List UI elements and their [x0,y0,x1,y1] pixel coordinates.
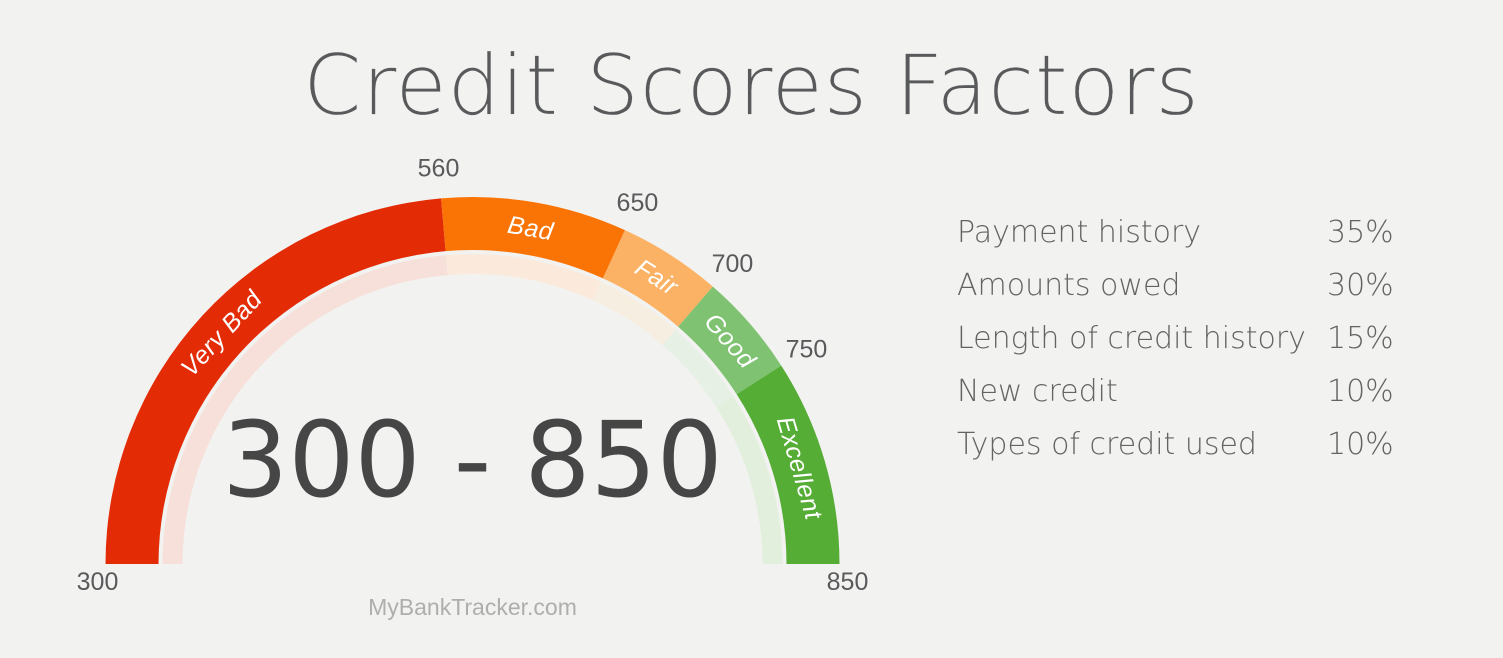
factor-percent: 30% [1327,259,1394,312]
watermark: MyBankTracker.com [160,594,785,621]
factor-percent: 10% [1327,418,1394,471]
gauge-tick-label: 650 [617,189,659,217]
factor-row: Amounts owed30% [957,259,1407,312]
factor-percent: 35% [1327,206,1394,259]
factor-name: New credit [957,374,1118,409]
infographic-page: Credit Scores Factors Very BadBadFairGoo… [0,0,1503,658]
factor-name: Length of credit history [957,321,1306,356]
factor-row: Length of credit history15% [957,312,1407,365]
factor-percent: 15% [1327,312,1394,365]
gauge-tick-label: 850 [827,568,869,596]
gauge-tick-label: 750 [786,335,828,363]
gauge-svg: Very BadBadFairGoodExcellent 30056065070… [0,0,960,658]
factor-percent: 10% [1327,365,1394,418]
gauge-tick-label: 300 [77,568,119,596]
credit-score-gauge: Very BadBadFairGoodExcellent 30056065070… [0,0,960,658]
gauge-tick-label: 700 [712,250,754,278]
gauge-center-value: 300 - 850 [160,408,785,512]
factor-name: Payment history [957,215,1201,250]
factor-name: Amounts owed [957,268,1180,303]
factor-row: Types of credit used10% [957,418,1407,471]
factor-name: Types of credit used [957,427,1257,462]
factor-row: New credit10% [957,365,1407,418]
factor-row: Payment history35% [957,206,1407,259]
gauge-tick-label: 560 [418,154,460,182]
credit-factors-list: Payment history35%Amounts owed30%Length … [957,206,1407,471]
